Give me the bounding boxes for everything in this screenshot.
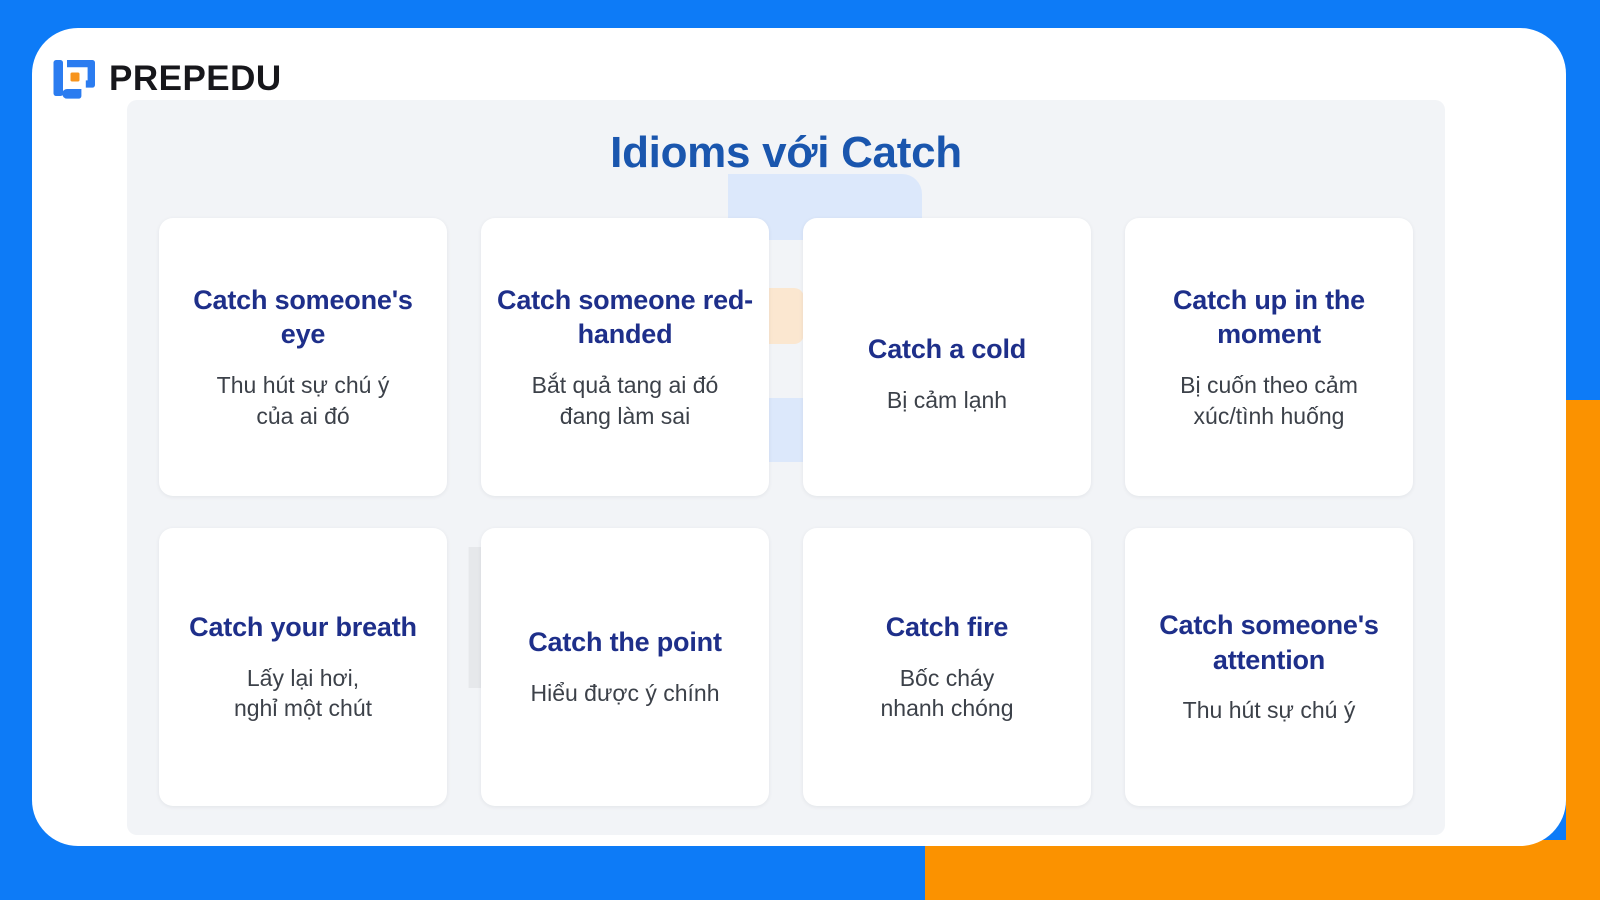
idiom-meaning: Hiểu được ý chính (530, 678, 719, 709)
brand-wordmark: PREPEDU (109, 61, 282, 96)
content-sheet: PREPEDU PREP Idioms với Catch Catch some… (32, 28, 1566, 846)
idiom-card[interactable]: Catch fire Bốc cháy nhanh chóng (803, 528, 1091, 806)
idiom-meaning-line: xúc/tình huống (1180, 401, 1358, 432)
idiom-meaning: Thu hút sự chú ý (1183, 695, 1356, 726)
idiom-term: Catch someone's eye (175, 283, 431, 352)
idiom-meaning-line: Lấy lại hơi, (234, 663, 372, 694)
idiom-card[interactable]: Catch up in the moment Bị cuốn theo cảm … (1125, 218, 1413, 496)
idiom-term: Catch the point (528, 625, 722, 660)
idiom-meaning-line: Bị cảm lạnh (887, 385, 1007, 416)
idiom-meaning: Bắt quả tang ai đó đang làm sai (532, 370, 719, 431)
idiom-card[interactable]: Catch your breath Lấy lại hơi, nghỉ một … (159, 528, 447, 806)
brand-header: PREPEDU (52, 54, 282, 102)
idiom-term: Catch a cold (868, 332, 1026, 367)
idiom-meaning-line: Bị cuốn theo cảm (1180, 370, 1358, 401)
idiom-card[interactable]: Catch someone's eye Thu hút sự chú ý của… (159, 218, 447, 496)
page-frame: PREPEDU PREP Idioms với Catch Catch some… (0, 0, 1600, 900)
idiom-meaning-line: Thu hút sự chú ý (217, 370, 390, 401)
idiom-card[interactable]: Catch someone's attention Thu hút sự chú… (1125, 528, 1413, 806)
idiom-meaning: Bị cảm lạnh (887, 385, 1007, 416)
prepedu-logo-icon (52, 56, 96, 100)
accent-bar-bottom (925, 840, 1600, 900)
idiom-meaning-line: của ai đó (217, 401, 390, 432)
idiom-meaning-line: nghỉ một chút (234, 693, 372, 724)
idiom-meaning: Thu hút sự chú ý của ai đó (217, 370, 390, 431)
idiom-term: Catch someone's attention (1141, 608, 1397, 677)
idiom-card[interactable]: Catch the point Hiểu được ý chính (481, 528, 769, 806)
idiom-meaning-line: Bốc cháy (880, 663, 1013, 694)
idiom-meaning-line: Bắt quả tang ai đó (532, 370, 719, 401)
idiom-meaning-line: nhanh chóng (880, 693, 1013, 724)
idiom-card-grid: Catch someone's eye Thu hút sự chú ý của… (159, 218, 1413, 806)
idiom-term: Catch your breath (189, 610, 417, 645)
idiom-term: Catch fire (886, 610, 1009, 645)
idiom-term: Catch up in the moment (1141, 283, 1397, 352)
idiom-card[interactable]: Catch someone red-handed Bắt quả tang ai… (481, 218, 769, 496)
idiom-meaning: Bị cuốn theo cảm xúc/tình huống (1180, 370, 1358, 431)
accent-bar-right (1566, 400, 1600, 900)
idiom-meaning-line: đang làm sai (532, 401, 719, 432)
idioms-panel: PREP Idioms với Catch Catch someone's ey… (127, 100, 1445, 835)
idiom-meaning-line: Thu hút sự chú ý (1183, 695, 1356, 726)
idiom-meaning-line: Hiểu được ý chính (530, 678, 719, 709)
idiom-meaning: Lấy lại hơi, nghỉ một chút (234, 663, 372, 724)
idiom-card[interactable]: Catch a cold Bị cảm lạnh (803, 218, 1091, 496)
idiom-term: Catch someone red-handed (497, 283, 753, 352)
page-title: Idioms với Catch (127, 128, 1445, 178)
idiom-meaning: Bốc cháy nhanh chóng (880, 663, 1013, 724)
